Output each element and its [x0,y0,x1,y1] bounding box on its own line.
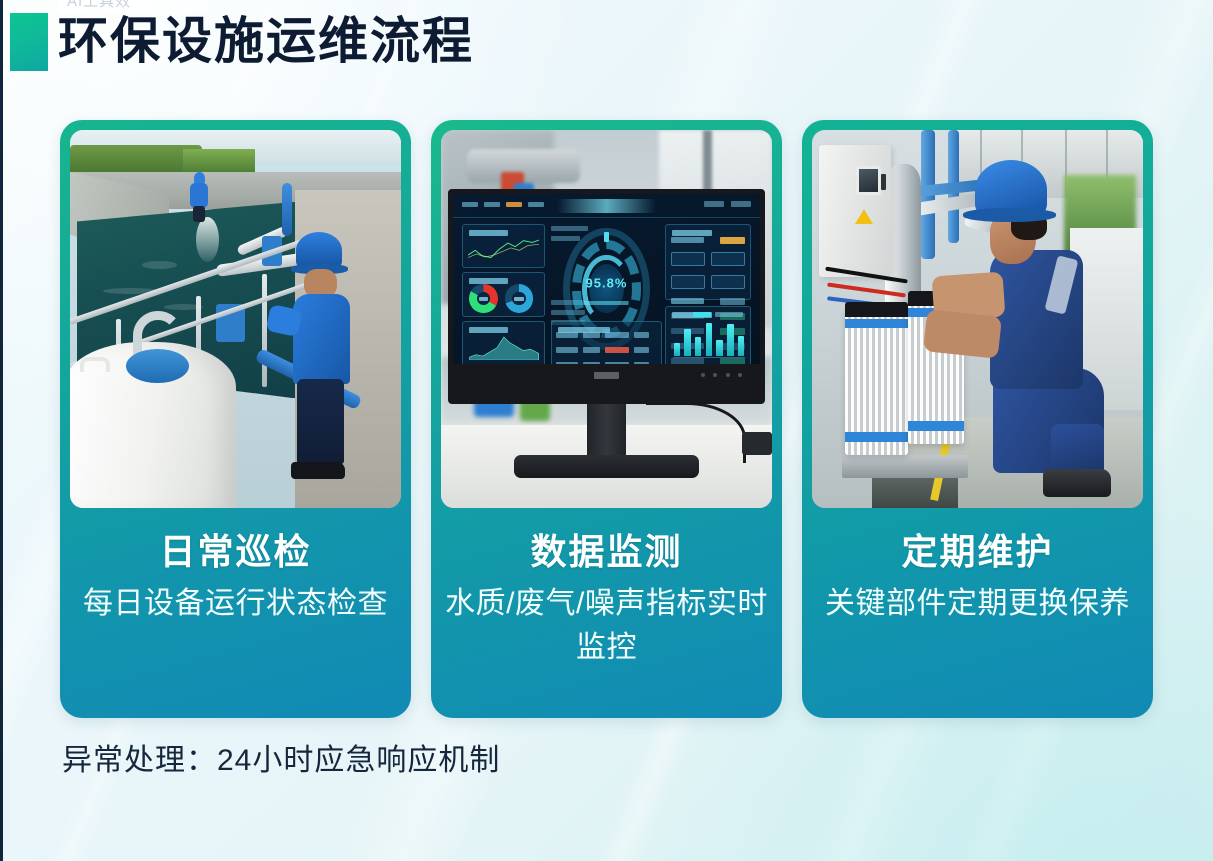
panel-title [469,278,508,284]
filter-band [845,319,908,328]
footer-note: 异常处理：24小时应急响应机制 [62,740,500,782]
helmet-brim [963,208,1056,222]
panel-trend-chart [462,224,545,268]
cell [556,332,578,338]
worker-legs [193,206,206,222]
kpi-row [671,298,745,305]
process-card-periodic-maintenance[interactable]: 定期维护 关键部件定期更换保养 [802,120,1153,718]
worker-arm [923,309,1002,358]
water-splash [196,217,219,262]
kpi-chip [711,275,745,289]
bar [674,343,680,357]
donut-label [479,297,488,301]
menu-item-active [506,202,522,207]
panel-title [469,230,508,236]
panel-bar-chart [665,306,751,367]
card-title: 数据监测 [445,526,768,578]
cable-black [825,267,907,284]
monitor-bezel: 95.8% [448,189,766,404]
panel-kpi-list [665,224,751,300]
inspection-worker [288,232,361,481]
worker-legs [297,379,344,464]
cable-red [827,282,906,297]
status-chip [704,201,724,207]
clock-chip [731,201,751,207]
process-card-data-monitoring[interactable]: 95.8% [431,120,782,718]
card-text-block: 定期维护 关键部件定期更换保养 [802,508,1153,718]
monitor-stand-base [514,455,699,478]
cell [605,347,629,353]
cabinet-latch [881,174,885,190]
monitor-logo [594,372,619,379]
cell [634,347,649,353]
donut-group [469,284,537,313]
area-chart-svg [469,333,539,360]
dashboard-menu [462,202,544,207]
dashboard-screen: 95.8% [453,194,761,384]
monitor-button[interactable] [726,373,730,377]
kpi-value [720,298,745,305]
menu-item [484,202,500,207]
bar [727,324,733,356]
cabinet-display [856,166,881,195]
monitoring-dashboard-photo: 95.8% [441,130,772,508]
cell [634,332,649,338]
photo-illustration [812,130,1143,508]
kpi-chip [671,252,705,266]
gauge-value: 95.8% [586,275,628,290]
water-ripple [142,261,177,269]
distant-worker [189,172,209,221]
process-card-row: 日常巡检 每日设备运行状态检查 [0,120,1213,720]
card-text-block: 数据监测 水质/废气/噪声指标实时监控 [431,508,782,718]
bar [684,329,690,356]
line-chart-svg [468,237,539,261]
worker-shoe [1043,469,1111,497]
dashboard-title-banner [557,199,655,212]
filter-cap [845,302,908,317]
card-description: 每日设备运行状态检查 [74,582,397,626]
page-title: 环保设施运维流程 [58,8,474,74]
monitor-button[interactable] [701,373,705,377]
card-title: 日常巡检 [74,526,397,578]
table-row [556,347,656,353]
monitor-stand-neck [587,402,627,459]
gauge-tick [604,232,609,243]
kpi-label [671,237,704,243]
kpi-row [671,237,745,244]
control-cabinet [819,145,892,277]
kpi-chip [671,275,705,289]
worker-torso [190,183,208,208]
card-text-block: 日常巡检 每日设备运行状态检查 [60,508,411,718]
filter-band [845,432,908,442]
cell [556,347,578,353]
bar [738,336,744,356]
cell [583,332,600,338]
worker-shoe [291,462,345,479]
kpi-label [671,298,704,304]
card-title: 定期维护 [816,526,1139,578]
kpi-rows [671,237,745,296]
filter-maintenance-photo [812,130,1143,508]
photo-illustration: 95.8% [441,130,772,508]
donut-chart-alarm [469,284,498,313]
menu-item [528,202,544,207]
bar-chart-legend [693,312,743,317]
panel-data-table [551,321,662,367]
background-pipe [467,149,580,183]
card-description: 水质/废气/噪声指标实时监控 [445,582,768,670]
blue-pipe [282,183,292,236]
left-edge-strip [0,0,3,861]
donut-chart-uptime [505,284,534,313]
bar [716,340,722,356]
table-row [556,332,656,338]
gauge-sublabel [584,301,629,305]
bar-chart-bars [674,320,745,357]
kpi-chip-row [671,275,745,289]
process-card-daily-inspection[interactable]: 日常巡检 每日设备运行状态检查 [60,120,411,718]
warning-triangle-icon [855,209,873,224]
title-accent-bar [10,13,48,71]
header: 环保设施运维流程 [0,0,1213,100]
kpi-chip [711,252,745,266]
card-description: 关键部件定期更换保养 [816,582,1139,626]
cell [583,347,600,353]
kpi-chip-row [671,252,745,266]
monitor-chin [453,364,761,384]
filter-base [842,455,968,478]
menu-item [462,202,478,207]
worker-torso [293,294,350,384]
filter-band [908,421,964,431]
water-treatment-inspection-photo [70,130,401,508]
legend-swatch [693,312,711,317]
panel-title [672,230,712,236]
kpi-value [720,237,745,244]
legend-label [715,312,743,317]
bar [695,337,701,356]
dashboard-status-area [704,201,751,207]
maintenance-worker [958,153,1137,501]
table-rows [556,332,656,363]
bar-chart-axis [673,357,745,358]
desk-device [742,432,772,455]
monitor-power-button[interactable] [738,373,742,377]
donut-label [514,297,523,301]
panel-ratio-gauges [462,272,545,318]
panel-area-chart [462,321,545,367]
cell [605,332,629,338]
bar [706,323,712,357]
tank-handle [80,357,110,372]
photo-illustration [70,130,401,508]
railing-post [262,274,267,387]
monitor-button[interactable] [713,373,717,377]
